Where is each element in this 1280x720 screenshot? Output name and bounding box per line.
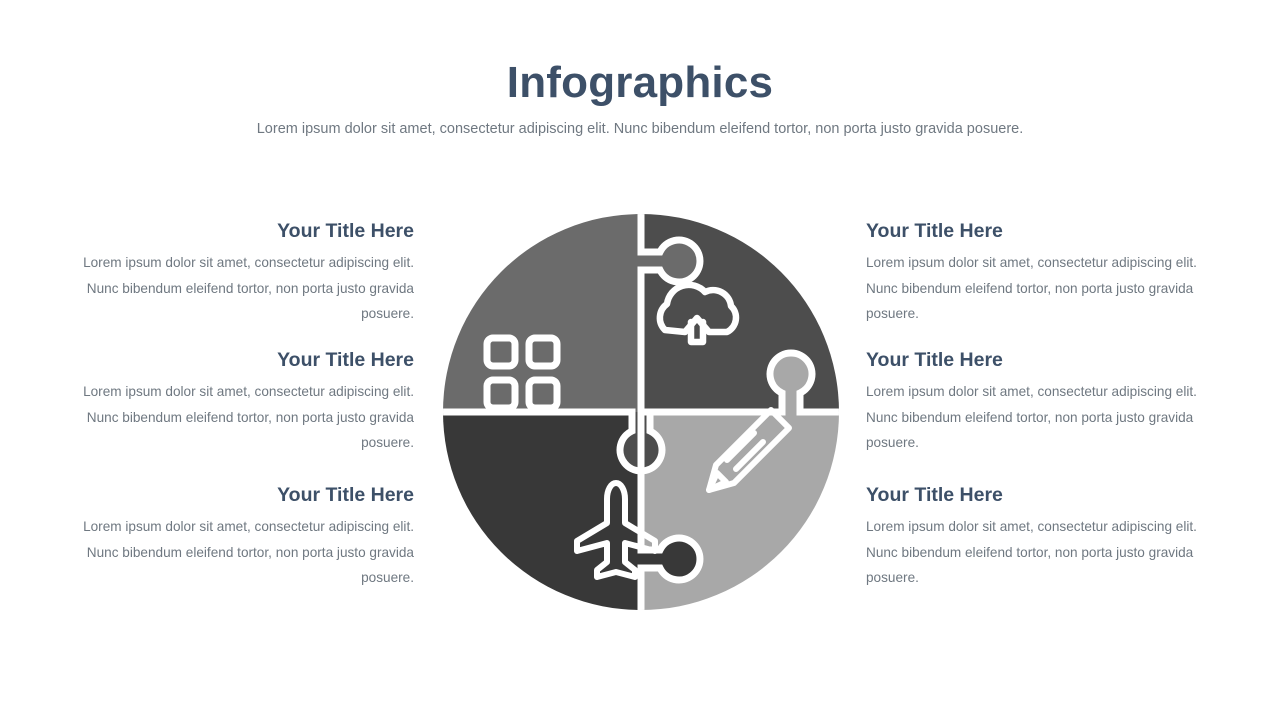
right-block-1-title: Your Title Here [866,219,1232,243]
right-block-1: Your Title Here Lorem ipsum dolor sit am… [866,219,1232,327]
puzzle-circle-graphic [441,212,841,612]
puzzle-piece-bottom-left-fill[interactable] [441,412,641,612]
infographic-slide: Infographics Lorem ipsum dolor sit amet,… [0,0,1280,720]
left-block-1-title: Your Title Here [48,219,414,243]
page-title: Infographics [0,58,1280,109]
left-block-2-body: Lorem ipsum dolor sit amet, consectetur … [48,379,414,455]
left-block-1: Your Title Here Lorem ipsum dolor sit am… [48,219,414,327]
right-block-3-title: Your Title Here [866,483,1232,507]
left-block-1-body: Lorem ipsum dolor sit amet, consectetur … [48,250,414,326]
header: Infographics Lorem ipsum dolor sit amet,… [0,58,1280,138]
right-block-1-body: Lorem ipsum dolor sit amet, consectetur … [866,250,1232,326]
right-block-2: Your Title Here Lorem ipsum dolor sit am… [866,348,1232,456]
right-block-2-body: Lorem ipsum dolor sit amet, consectetur … [866,379,1232,455]
left-block-2-title: Your Title Here [48,348,414,372]
page-subtitle: Lorem ipsum dolor sit amet, consectetur … [0,120,1280,139]
left-block-3-body: Lorem ipsum dolor sit amet, consectetur … [48,514,414,590]
left-block-2: Your Title Here Lorem ipsum dolor sit am… [48,348,414,456]
right-block-2-title: Your Title Here [866,348,1232,372]
left-block-3: Your Title Here Lorem ipsum dolor sit am… [48,483,414,591]
right-block-3-body: Lorem ipsum dolor sit amet, consectetur … [866,514,1232,590]
left-block-3-title: Your Title Here [48,483,414,507]
right-block-3: Your Title Here Lorem ipsum dolor sit am… [866,483,1232,591]
